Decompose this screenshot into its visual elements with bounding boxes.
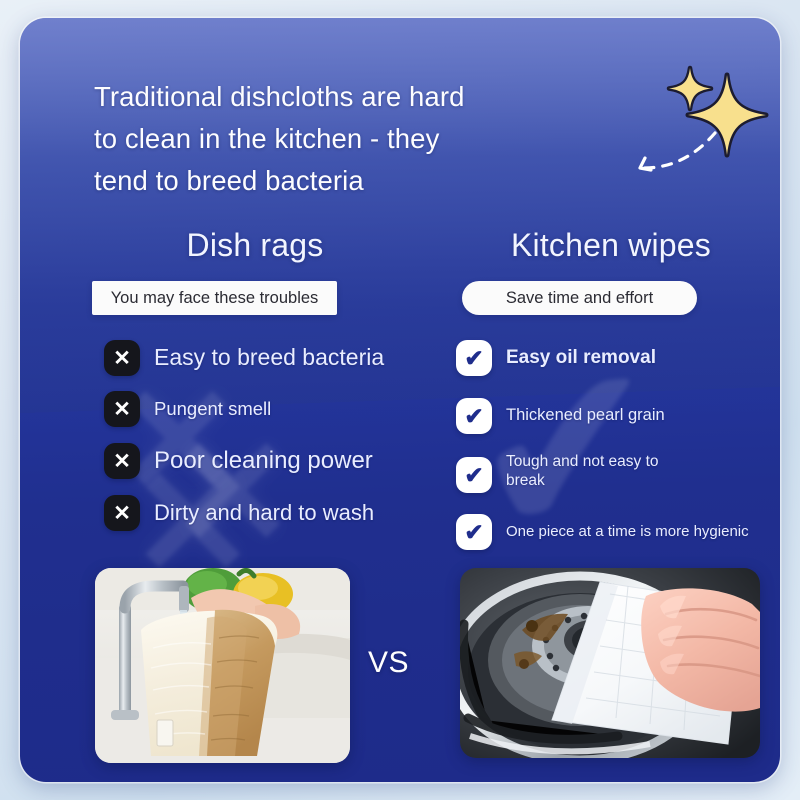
dirty-dishcloth-photo (95, 568, 350, 763)
sparkle-icon (669, 68, 711, 109)
list-item-label: Thickened pearl grain (506, 406, 665, 426)
column-dish-rags: Dish rags You may face these troubles (90, 223, 420, 315)
x-icon: ✕ (104, 443, 140, 479)
headline-line-2: to clean in the kitchen - they (94, 118, 514, 160)
dashed-curved-arrow-icon (640, 133, 715, 170)
list-item: ✕ Dirty and hard to wash (104, 495, 424, 531)
check-icon: ✔ (456, 398, 492, 434)
list-item-label: Tough and not easy to break (506, 453, 686, 490)
list-item-label: Poor cleaning power (154, 447, 373, 476)
badge-dish-rags: You may face these troubles (92, 281, 337, 315)
list-item: ✕ Pungent smell (104, 391, 424, 427)
list-item-label: Easy to breed bacteria (154, 344, 384, 372)
column-title-dish-rags: Dish rags (90, 223, 420, 267)
list-item-label: Dirty and hard to wash (154, 500, 374, 526)
x-icon: ✕ (104, 495, 140, 531)
list-item: ✔ Easy oil removal (456, 340, 766, 376)
list-item: ✕ Poor cleaning power (104, 443, 424, 479)
list-item-label: Easy oil removal (506, 347, 656, 370)
x-icon: ✕ (104, 340, 140, 376)
kitchen-wipe-photo (460, 568, 760, 758)
headline-line-3: tend to breed bacteria (94, 160, 514, 202)
list-item-label: One piece at a time is more hygienic (506, 523, 749, 541)
list-item: ✔ Tough and not easy to break (456, 453, 766, 493)
check-icon: ✔ (456, 514, 492, 550)
headline-line-1: Traditional dishcloths are hard (94, 76, 514, 118)
headline: Traditional dishcloths are hard to clean… (94, 76, 514, 202)
list-item: ✔ Thickened pearl grain (456, 398, 766, 434)
sparkle-decoration-group (620, 58, 780, 198)
list-item: ✕ Easy to breed bacteria (104, 340, 424, 376)
feature-list-dish-rags: ✕ Easy to breed bacteria ✕ Pungent smell… (104, 340, 424, 531)
column-kitchen-wipes: Kitchen wipes Save time and effort (456, 223, 766, 315)
list-item: ✔ One piece at a time is more hygienic (456, 514, 766, 550)
infographic-panel: ✕ ✕ ✕ ✔ Traditional dishcloths are hard … (20, 18, 780, 782)
check-icon: ✔ (456, 457, 492, 493)
infographic-frame: ✕ ✕ ✕ ✔ Traditional dishcloths are hard … (0, 0, 800, 800)
badge-kitchen-wipes: Save time and effort (462, 281, 697, 315)
x-icon: ✕ (104, 391, 140, 427)
feature-list-kitchen-wipes: ✔ Easy oil removal ✔ Thickened pearl gra… (456, 340, 766, 550)
column-title-kitchen-wipes: Kitchen wipes (456, 223, 766, 267)
vs-label: VS (368, 646, 409, 680)
list-item-label: Pungent smell (154, 398, 271, 420)
check-icon: ✔ (456, 340, 492, 376)
